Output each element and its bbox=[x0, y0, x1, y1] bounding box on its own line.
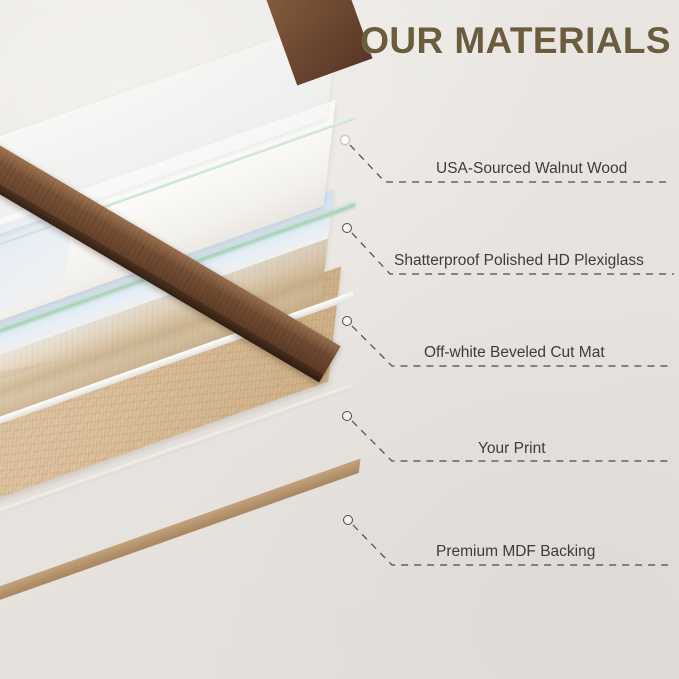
callout-group: USA-Sourced Walnut WoodShatterproof Poli… bbox=[0, 0, 679, 679]
callout-marker-walnut-wood[interactable] bbox=[341, 136, 349, 144]
callout-label-mdf-backing: Premium MDF Backing bbox=[436, 543, 595, 561]
callout-marker-mdf-backing[interactable] bbox=[343, 515, 353, 525]
callout-marker-cut-mat[interactable] bbox=[342, 316, 352, 326]
callout-label-cut-mat: Off-white Beveled Cut Mat bbox=[424, 344, 605, 362]
callout-label-plexiglass: Shatterproof Polished HD Plexiglass bbox=[394, 252, 644, 270]
infographic-canvas: OUR MATERIALS USA-Sourced Walnut WoodSha… bbox=[0, 0, 679, 679]
callout-label-your-print: Your Print bbox=[478, 440, 546, 458]
callout-label-walnut-wood: USA-Sourced Walnut Wood bbox=[436, 160, 627, 178]
callout-marker-your-print[interactable] bbox=[342, 411, 352, 421]
callout-marker-plexiglass[interactable] bbox=[342, 223, 352, 233]
